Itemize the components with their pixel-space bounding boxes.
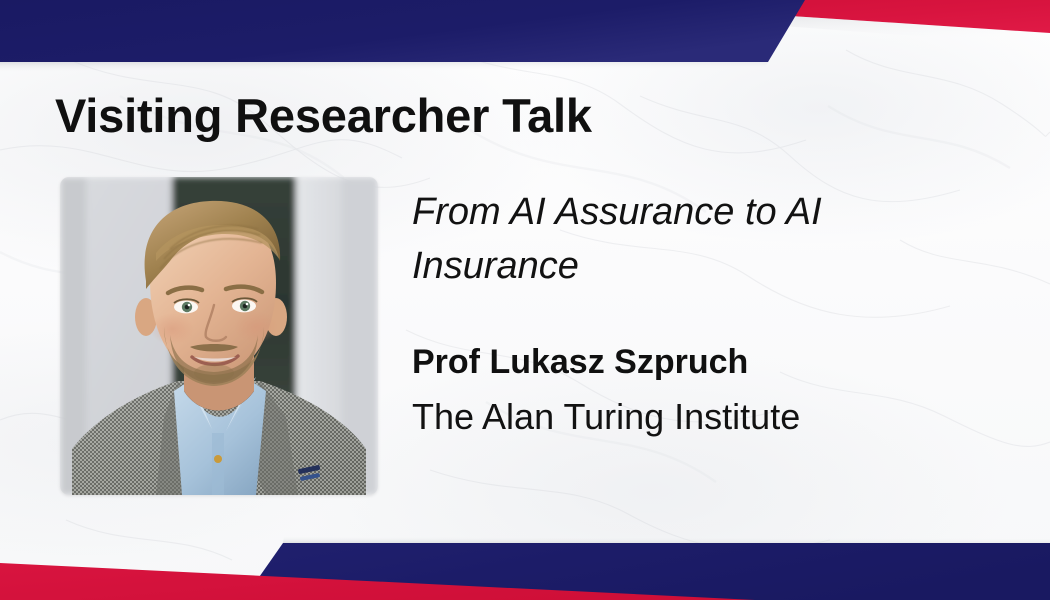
talk-title: From AI Assurance to AI Insurance [412, 186, 972, 294]
page-title: Visiting Researcher Talk [55, 88, 592, 143]
top-navy-band [0, 0, 805, 62]
event-announcement-slide: Visiting Researcher Talk Portrait of Pro… [0, 0, 1050, 600]
speaker-portrait-image: Portrait of Prof Lukasz Szpruch [60, 177, 378, 495]
speaker-affiliation: The Alan Turing Institute [412, 395, 972, 438]
speaker-photo: Portrait of Prof Lukasz Szpruch [60, 177, 378, 495]
talk-details: From AI Assurance to AI Insurance Prof L… [412, 186, 972, 438]
bottom-navy-band-shadow [283, 536, 1050, 543]
speaker-name: Prof Lukasz Szpruch [412, 342, 972, 383]
top-navy-band-shadow [0, 62, 768, 72]
